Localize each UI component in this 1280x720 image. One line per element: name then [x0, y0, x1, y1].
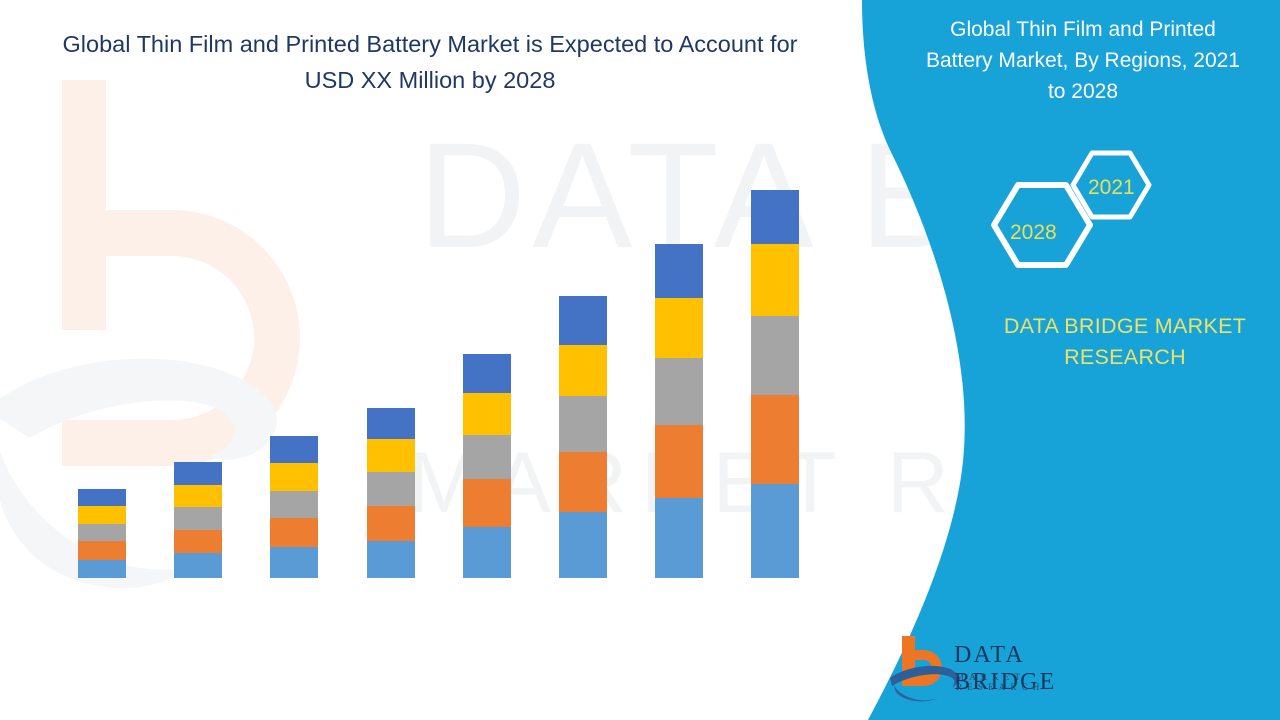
bar-segment [367, 439, 415, 472]
chart-plot-area [28, 150, 800, 578]
bar-segment [78, 524, 126, 541]
stacked-bar-2022 [174, 462, 222, 578]
bar-segment [655, 298, 703, 359]
stacked-bar-2025 [463, 354, 511, 578]
bar-segment [78, 489, 126, 506]
bar-segment [559, 296, 607, 345]
stacked-bar-2021 [78, 489, 126, 578]
bar-segment [463, 354, 511, 393]
stacked-bar-2023 [270, 436, 318, 578]
bar-segment [751, 244, 799, 316]
bar-segment [463, 393, 511, 435]
stacked-bar-chart: 20212022202320242025202620272028 North A… [0, 150, 830, 580]
stacked-bar-2028 [751, 190, 799, 578]
bar-segment [367, 541, 415, 578]
bar-segment [270, 547, 318, 578]
bar-group [655, 0, 703, 578]
hexagon-label-2021: 2021 [1088, 176, 1135, 200]
bar-segment [655, 425, 703, 498]
bar-segment [559, 396, 607, 451]
hexagon-label-2028: 2028 [1010, 221, 1057, 245]
bar-group [174, 0, 222, 578]
bar-segment [655, 498, 703, 578]
hexagon-outlines-icon [980, 145, 1195, 285]
bar-segment [751, 190, 799, 244]
bar-segment [559, 512, 607, 578]
stacked-bar-2024 [367, 408, 415, 578]
bar-segment [174, 530, 222, 554]
bar-group [751, 0, 799, 578]
bar-segment [463, 435, 511, 479]
bar-segment [78, 560, 126, 578]
panel-title: Global Thin Film and Printed Battery Mar… [918, 14, 1248, 107]
bar-segment [270, 518, 318, 547]
logo-sub-text: MARKET RESEARCH [956, 672, 1103, 692]
bar-segment [559, 345, 607, 396]
bar-segment [367, 506, 415, 541]
bar-segment [655, 244, 703, 297]
stacked-bar-2026 [559, 296, 607, 578]
bar-segment [751, 484, 799, 578]
bar-segment [270, 491, 318, 519]
bar-segment [174, 462, 222, 485]
bar-group [270, 0, 318, 578]
bar-segment [751, 316, 799, 395]
bar-segment [270, 463, 318, 491]
bar-group [463, 0, 511, 578]
brand-name: DATA BRIDGE MARKET RESEARCH [955, 311, 1280, 373]
bar-group [367, 0, 415, 578]
bar-segment [463, 479, 511, 526]
bar-segment [78, 506, 126, 523]
bar-segment [270, 436, 318, 463]
bar-segment [78, 541, 126, 559]
bar-segment [367, 408, 415, 440]
bar-segment [174, 485, 222, 508]
bar-segment [174, 507, 222, 530]
company-logo: DATA BRIDGE MARKET RESEARCH [888, 632, 1103, 704]
bar-group [559, 0, 607, 578]
bar-segment [751, 395, 799, 483]
bar-segment [655, 358, 703, 425]
stacked-bar-2027 [655, 244, 703, 578]
bar-segment [174, 553, 222, 578]
bar-segment [463, 527, 511, 578]
bar-group [78, 0, 126, 578]
bar-segment [367, 472, 415, 506]
hexagon-group: 2021 2028 [980, 145, 1195, 285]
infographic-canvas: DATA BRIDGE MARKET RESEARCH Global Thin … [0, 0, 1280, 720]
bar-segment [559, 452, 607, 513]
